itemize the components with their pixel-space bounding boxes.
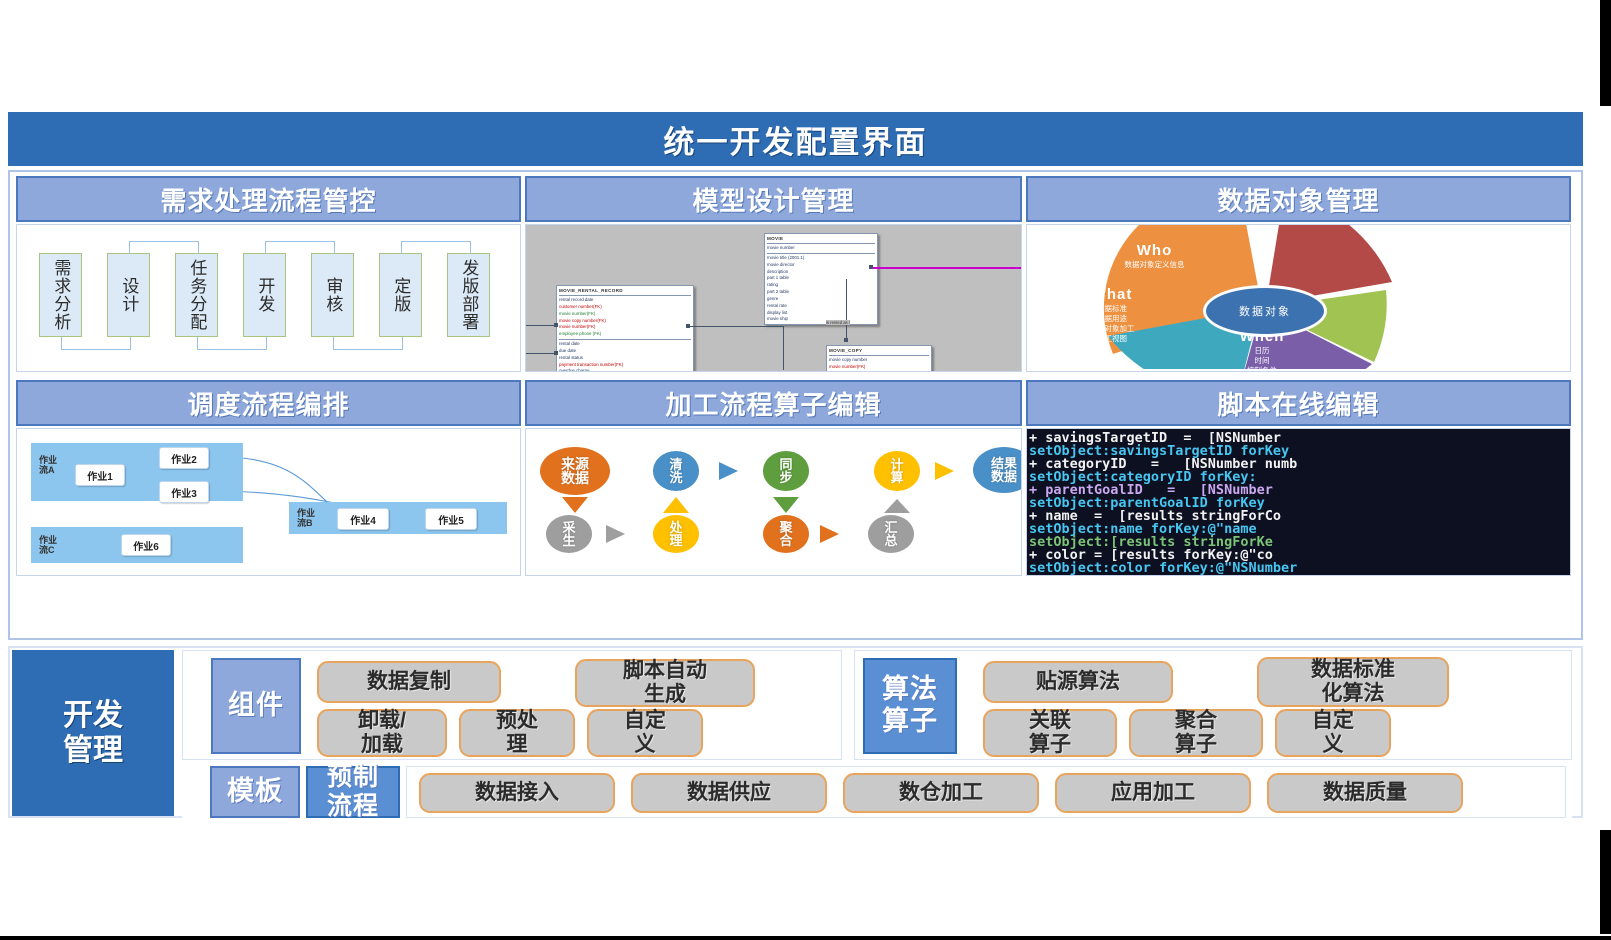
algorithm-item-source-algo[interactable]: 贴源算法 — [983, 661, 1173, 703]
template-item-app-process-label: 应用加工 — [1111, 781, 1195, 805]
wheel-what-key: What — [1037, 287, 1187, 304]
panel-requirement-process[interactable]: 需求处理流程管控 需求分析 设计 任务分配 开发 审核 定版 发版部署 — [16, 176, 521, 372]
req-connector-bottom-2 — [197, 337, 267, 350]
job-node-3[interactable]: 作业3 — [159, 481, 209, 503]
operator-arrow-down-source — [562, 497, 588, 513]
wheel-center: 数据对象 — [1203, 285, 1327, 337]
wheel-how-l3: 数据规范 — [1357, 282, 1522, 292]
requirement-flow-diagram: 需求分析 设计 任务分配 开发 审核 定版 发版部署 — [17, 225, 520, 371]
component-item-unload-load[interactable]: 卸载/加载 — [317, 709, 447, 757]
wheel-what-l1: 数据用途 — [1037, 314, 1187, 324]
panel-title-script: 脚本在线编辑 — [1217, 385, 1379, 422]
operator-node-sync[interactable]: 同 步 — [763, 451, 809, 491]
wheel-what-l3: 加工视图 — [1037, 334, 1187, 344]
job-node-1-label: 作业1 — [87, 468, 113, 483]
component-item-custom-label: 自定义 — [624, 709, 666, 756]
component-item-data-copy[interactable]: 数据复制 — [317, 661, 501, 703]
er-line-4 — [783, 326, 784, 370]
template-item-data-supply-label: 数据供应 — [687, 781, 771, 805]
wheel-when-l1: 时间 — [1197, 356, 1327, 366]
panel-schedule-orchestration[interactable]: 调度流程编排 作业流A — [16, 380, 521, 576]
er-rr-f2: rental status — [559, 355, 691, 362]
req-step-1-label: 需求分析 — [52, 259, 70, 331]
operator-summary-l2: 总 — [884, 534, 897, 547]
algorithm-item-aggregate-label: 聚合算子 — [1175, 709, 1217, 756]
algorithm-item-source-algo-label: 贴源算法 — [1036, 670, 1120, 694]
panel-body-operator: 来源 数据 清 洗 同 步 计 — [525, 428, 1022, 576]
algorithm-item-join[interactable]: 关联算子 — [983, 709, 1117, 757]
wheel-what-l2: 数据对象加工 — [1037, 324, 1187, 334]
component-item-custom[interactable]: 自定义 — [587, 709, 703, 757]
req-connector-bottom-1 — [61, 337, 131, 350]
dev-management-body: 组件 数据复制 脚本自动生成 卸载/加载 预处理 自定义 — [182, 650, 1579, 814]
template-item-warehouse-process[interactable]: 数仓加工 — [843, 773, 1039, 813]
er-movie-f8: display list — [767, 310, 875, 317]
job-node-1[interactable]: 作业1 — [75, 464, 125, 486]
algorithm-item-join-label: 关联算子 — [1029, 709, 1071, 756]
req-connector-bottom-3 — [333, 337, 403, 350]
template-item-data-ingest-label: 数据接入 — [475, 781, 559, 805]
template-label[interactable]: 模板 — [210, 766, 300, 818]
component-item-data-copy-label: 数据复制 — [367, 670, 451, 694]
er-movie-f0: movie title (2001.1) — [767, 255, 875, 262]
algorithm-label[interactable]: 算法算子 — [863, 658, 957, 754]
operator-node-result[interactable]: 结果 数据 — [973, 447, 1022, 493]
panel-grid: 需求处理流程管控 需求分析 设计 任务分配 开发 审核 定版 发版部署 — [8, 170, 1583, 640]
code-line-11: setObject:color forKey:@"NSNumber — [1029, 560, 1297, 575]
req-step-3[interactable]: 任务分配 — [175, 253, 218, 337]
operator-node-source[interactable]: 来源 数据 — [540, 447, 610, 495]
er-rr-f3: payment transaction number(FK) — [559, 362, 691, 369]
operator-arrow-collect-process — [606, 525, 625, 543]
component-item-script-autogen[interactable]: 脚本自动生成 — [575, 659, 755, 707]
template-item-app-process[interactable]: 应用加工 — [1055, 773, 1251, 813]
template-item-data-supply[interactable]: 数据供应 — [631, 773, 827, 813]
job-group-a[interactable]: 作业流A — [31, 443, 243, 501]
page-title-text: 统一开发配置界面 — [664, 117, 928, 162]
er-movie-f9: movie ship — [767, 316, 875, 323]
template-item-data-quality[interactable]: 数据质量 — [1267, 773, 1463, 813]
er-node-1 — [554, 323, 558, 327]
er-rr-f1: due date — [559, 348, 691, 355]
job-node-4-label: 作业4 — [350, 512, 376, 527]
panel-header-object: 数据对象管理 — [1026, 176, 1571, 222]
operator-arrow-up-summary — [884, 499, 910, 513]
operator-arrow-compute-result — [935, 462, 954, 480]
er-table-movie-key: movie number — [767, 245, 875, 252]
wheel-label-who: Who 数据对象定义信息 — [1067, 243, 1242, 270]
preflow-label-text: 预制流程 — [327, 763, 379, 822]
job-node-4[interactable]: 作业4 — [337, 508, 389, 530]
operator-arrow-aggregate-summary — [820, 525, 839, 543]
er-rr-k2: movie number(FK) — [559, 311, 691, 318]
er-rr-k1: customer number(FK) — [559, 304, 691, 311]
wheel-when-l2: 控制条件 — [1197, 366, 1327, 372]
er-line-5 — [846, 279, 847, 341]
er-rr-k4: movie number(FK) — [559, 324, 691, 331]
wheel-who-key: Who — [1067, 243, 1242, 260]
component-label[interactable]: 组件 — [211, 658, 301, 754]
er-rr-f4: overdue charge — [559, 368, 691, 372]
template-label-text: 模板 — [227, 776, 283, 808]
er-rr-k0: rental record date — [559, 297, 691, 304]
panel-model-design[interactable]: 模型设计管理 MOVIE movie number movie title (2… — [525, 176, 1022, 372]
wheel-how-l4: 数据约束条件 — [1357, 292, 1522, 302]
req-step-3-label: 任务分配 — [188, 259, 206, 331]
panel-header-operator: 加工流程算子编辑 — [525, 380, 1022, 426]
wheel-how-l1: 字段mapping信息 — [1357, 262, 1522, 272]
er-node-2 — [554, 351, 558, 355]
er-table-movie-name: MOVIE — [767, 235, 875, 242]
right-edge-bar-bottom — [1600, 830, 1611, 934]
req-connector-top-3 — [401, 241, 471, 254]
er-table-movie-copy[interactable]: MOVIE_COPY movie copy number movie numbe… — [826, 345, 932, 372]
algorithm-item-standardize-label: 数据标准化算法 — [1311, 658, 1395, 705]
job-node-5-label: 作业5 — [438, 512, 464, 527]
req-connector-top-1 — [129, 241, 199, 254]
er-mc-k1: movie number(FK) — [829, 364, 929, 371]
component-item-preprocess-label: 预处理 — [496, 709, 538, 756]
req-step-2[interactable]: 设计 — [107, 253, 150, 337]
panel-script-editor[interactable]: 脚本在线编辑 + savingsTargetID = [NSNumber set… — [1026, 380, 1571, 576]
req-step-7[interactable]: 发版部署 — [447, 253, 490, 337]
job-flow-diagram: 作业流A 作业流B 作业流C 作业1 作业2 作业3 作业4 作业5 — [17, 429, 520, 575]
unified-config-frame: 统一开发配置界面 需求处理流程管控 需求分析 设计 任务分配 开发 审核 定版 — [8, 112, 1592, 818]
dev-management-title: 开发管理 — [12, 650, 174, 816]
operator-node-aggregate[interactable]: 聚 合 — [763, 515, 809, 553]
component-row: 组件 数据复制 脚本自动生成 卸载/加载 预处理 自定义 — [182, 650, 842, 760]
operator-collect-l2: 生 — [562, 534, 575, 547]
er-rel-label-1: is rented as / — [826, 320, 850, 325]
er-movie-f4: rating — [767, 282, 875, 289]
wheel-center-label: 数据对象 — [1239, 303, 1291, 319]
er-rr-f0: rental date — [559, 341, 691, 348]
right-edge-bar-top — [1600, 0, 1611, 106]
panel-title-schedule: 调度流程编排 — [187, 385, 349, 422]
er-movie-f7: rental rate — [767, 303, 875, 310]
panel-title-object: 数据对象管理 — [1217, 181, 1379, 218]
er-table-movie[interactable]: MOVIE movie number movie title (2001.1) … — [764, 233, 878, 325]
er-line-magenta — [872, 267, 1022, 269]
panel-header-schedule: 调度流程编排 — [16, 380, 521, 426]
operator-node-summary[interactable]: 汇 总 — [868, 515, 914, 553]
er-line-3 — [688, 326, 784, 327]
wheel-how-key: How — [1357, 235, 1522, 252]
req-step-6[interactable]: 定版 — [379, 253, 422, 337]
page-title: 统一开发配置界面 — [8, 112, 1583, 166]
panel-body-requirement: 需求分析 设计 任务分配 开发 审核 定版 发版部署 — [16, 224, 521, 372]
job-group-c-label: 作业流C — [39, 535, 57, 556]
component-label-text: 组件 — [228, 690, 284, 722]
wheel-when-l0: 日历 — [1197, 346, 1327, 356]
code-editor[interactable]: + savingsTargetID = [NSNumber setObject:… — [1027, 429, 1570, 575]
panel-header-model: 模型设计管理 — [525, 176, 1022, 222]
job-node-2[interactable]: 作业2 — [159, 447, 209, 469]
req-step-4-label: 开发 — [256, 277, 274, 313]
req-step-7-label: 发版部署 — [460, 259, 478, 331]
panel-header-requirement: 需求处理流程管控 — [16, 176, 521, 222]
job-node-2-label: 作业2 — [171, 451, 197, 466]
panel-header-script: 脚本在线编辑 — [1026, 380, 1571, 426]
five-w-wheel: Who 数据对象定义信息 What 数据标准 数据用途 数据对象加工 加工视图 … — [1027, 225, 1570, 371]
panel-data-object[interactable]: 数据对象管理 — [1026, 176, 1571, 372]
component-item-preprocess[interactable]: 预处理 — [459, 709, 575, 757]
job-node-6-label: 作业6 — [133, 538, 159, 553]
operator-node-compute[interactable]: 计 算 — [874, 451, 920, 491]
algorithm-label-text: 算法算子 — [882, 674, 938, 738]
algorithm-row: 算法算子 贴源算法 数据标准化算法 关联算子 聚合算子 自定 — [854, 650, 1572, 760]
operator-sync-l2: 步 — [779, 471, 792, 484]
operator-source-l2: 数据 — [561, 471, 589, 485]
template-items-box: 数据接入 数据供应 数仓加工 应用加工 数据质量 — [406, 766, 1566, 818]
operator-process-l2: 理 — [669, 534, 682, 547]
operator-node-collect[interactable]: 采 生 — [546, 515, 592, 553]
wheel-label-where: Where 存放物理位置 Mapping关系 — [1367, 299, 1517, 336]
component-item-script-autogen-label: 脚本自动生成 — [623, 659, 707, 706]
algorithm-item-custom[interactable]: 自定义 — [1275, 709, 1391, 757]
template-row: 模板 预制流程 数据接入 数据供应 数仓加工 — [182, 766, 1572, 818]
component-item-unload-load-label: 卸载/加载 — [358, 709, 406, 756]
wheel-where-l1: Mapping关系 — [1367, 326, 1517, 336]
er-diagram: MOVIE movie number movie title (2001.1) … — [526, 225, 1021, 371]
er-movie-f5: part 2 table — [767, 289, 875, 296]
wheel-where-l0: 存放物理位置 — [1367, 316, 1517, 326]
algorithm-item-standardize[interactable]: 数据标准化算法 — [1257, 657, 1449, 707]
preflow-label[interactable]: 预制流程 — [306, 766, 400, 818]
slide-canvas: 统一开发配置界面 需求处理流程管控 需求分析 设计 任务分配 开发 审核 定版 — [0, 0, 1611, 940]
template-item-data-quality-label: 数据质量 — [1323, 781, 1407, 805]
dev-management-title-text: 开发管理 — [63, 698, 123, 769]
wheel-what-l0: 数据标准 — [1037, 304, 1187, 314]
wheel-how-l2: 数据生成规则 — [1357, 272, 1522, 282]
er-table-rental-name: MOVIE_RENTAL_RECORD — [559, 287, 691, 294]
operator-node-clean[interactable]: 清 洗 — [653, 451, 699, 491]
template-item-data-ingest[interactable]: 数据接入 — [419, 773, 615, 813]
req-step-1[interactable]: 需求分析 — [39, 253, 82, 337]
operator-compute-l2: 算 — [890, 471, 903, 484]
er-rr-k3: movie copy number(FK) — [559, 318, 691, 325]
panel-title-requirement: 需求处理流程管控 — [160, 181, 376, 218]
operator-aggregate-l2: 合 — [779, 534, 792, 547]
req-step-5-label: 审核 — [324, 277, 342, 313]
er-node-3 — [686, 324, 690, 328]
er-table-rental-record[interactable]: MOVIE_RENTAL_RECORD rental record date c… — [556, 285, 694, 372]
panel-title-operator: 加工流程算子编辑 — [665, 385, 881, 422]
wheel-how-l0: 处理数据对象的方法策略 — [1357, 252, 1522, 262]
job-group-b-label: 作业流B — [297, 508, 315, 529]
er-movie-f3: part 1 table — [767, 275, 875, 282]
req-connector-top-2 — [265, 241, 335, 254]
wheel-label-what: What 数据标准 数据用途 数据对象加工 加工视图 — [1037, 287, 1187, 344]
er-mc-k0: movie copy number — [829, 357, 929, 364]
operator-flow-diagram: 来源 数据 清 洗 同 步 计 — [526, 429, 1021, 575]
er-node-4 — [869, 265, 873, 269]
job-node-5[interactable]: 作业5 — [425, 508, 477, 530]
req-step-2-label: 设计 — [120, 277, 138, 313]
operator-clean-l2: 洗 — [669, 471, 682, 484]
operator-result-l2: 数据 — [991, 470, 1017, 483]
operator-source-l1: 来源 — [561, 457, 589, 471]
er-movie-f2: description — [767, 269, 875, 276]
algorithm-item-aggregate[interactable]: 聚合算子 — [1129, 709, 1263, 757]
req-step-4[interactable]: 开发 — [243, 253, 286, 337]
job-group-a-label: 作业流A — [39, 455, 57, 476]
panel-body-object: Who 数据对象定义信息 What 数据标准 数据用途 数据对象加工 加工视图 … — [1026, 224, 1571, 372]
er-movie-f6: genre — [767, 296, 875, 303]
panel-operator-editor[interactable]: 加工流程算子编辑 来源 数据 清 洗 — [525, 380, 1022, 576]
job-node-6[interactable]: 作业6 — [121, 534, 171, 556]
er-rr-k5: employee phone (FK) — [559, 331, 691, 338]
panel-body-script: + savingsTargetID = [NSNumber setObject:… — [1026, 428, 1571, 576]
wheel-label-how: How 处理数据对象的方法策略 字段mapping信息 数据生成规则 数据规范 … — [1357, 235, 1522, 302]
operator-arrow-down-sync — [773, 497, 799, 513]
panel-title-model: 模型设计管理 — [692, 181, 854, 218]
bottom-edge-line — [0, 936, 1611, 940]
er-table-copy-name: MOVIE_COPY — [829, 347, 929, 354]
req-step-5[interactable]: 审核 — [311, 253, 354, 337]
dev-management-section: 开发管理 组件 数据复制 脚本自动生成 卸载/加载 — [8, 646, 1583, 818]
er-movie-f1: movie director — [767, 262, 875, 269]
er-node-5 — [844, 338, 848, 342]
operator-arrow-up-process — [663, 497, 689, 513]
operator-node-process[interactable]: 处 理 — [653, 515, 699, 553]
wheel-who-l0: 数据对象定义信息 — [1067, 260, 1242, 270]
job-node-3-label: 作业3 — [171, 485, 197, 500]
template-item-warehouse-process-label: 数仓加工 — [899, 781, 983, 805]
panel-body-model: MOVIE movie number movie title (2001.1) … — [525, 224, 1022, 372]
req-step-6-label: 定版 — [392, 277, 410, 313]
algorithm-item-custom-label: 自定义 — [1312, 709, 1354, 756]
panel-body-schedule: 作业流A 作业流B 作业流C 作业1 作业2 作业3 作业4 作业5 — [16, 428, 521, 576]
operator-arrow-clean-sync — [719, 462, 738, 480]
